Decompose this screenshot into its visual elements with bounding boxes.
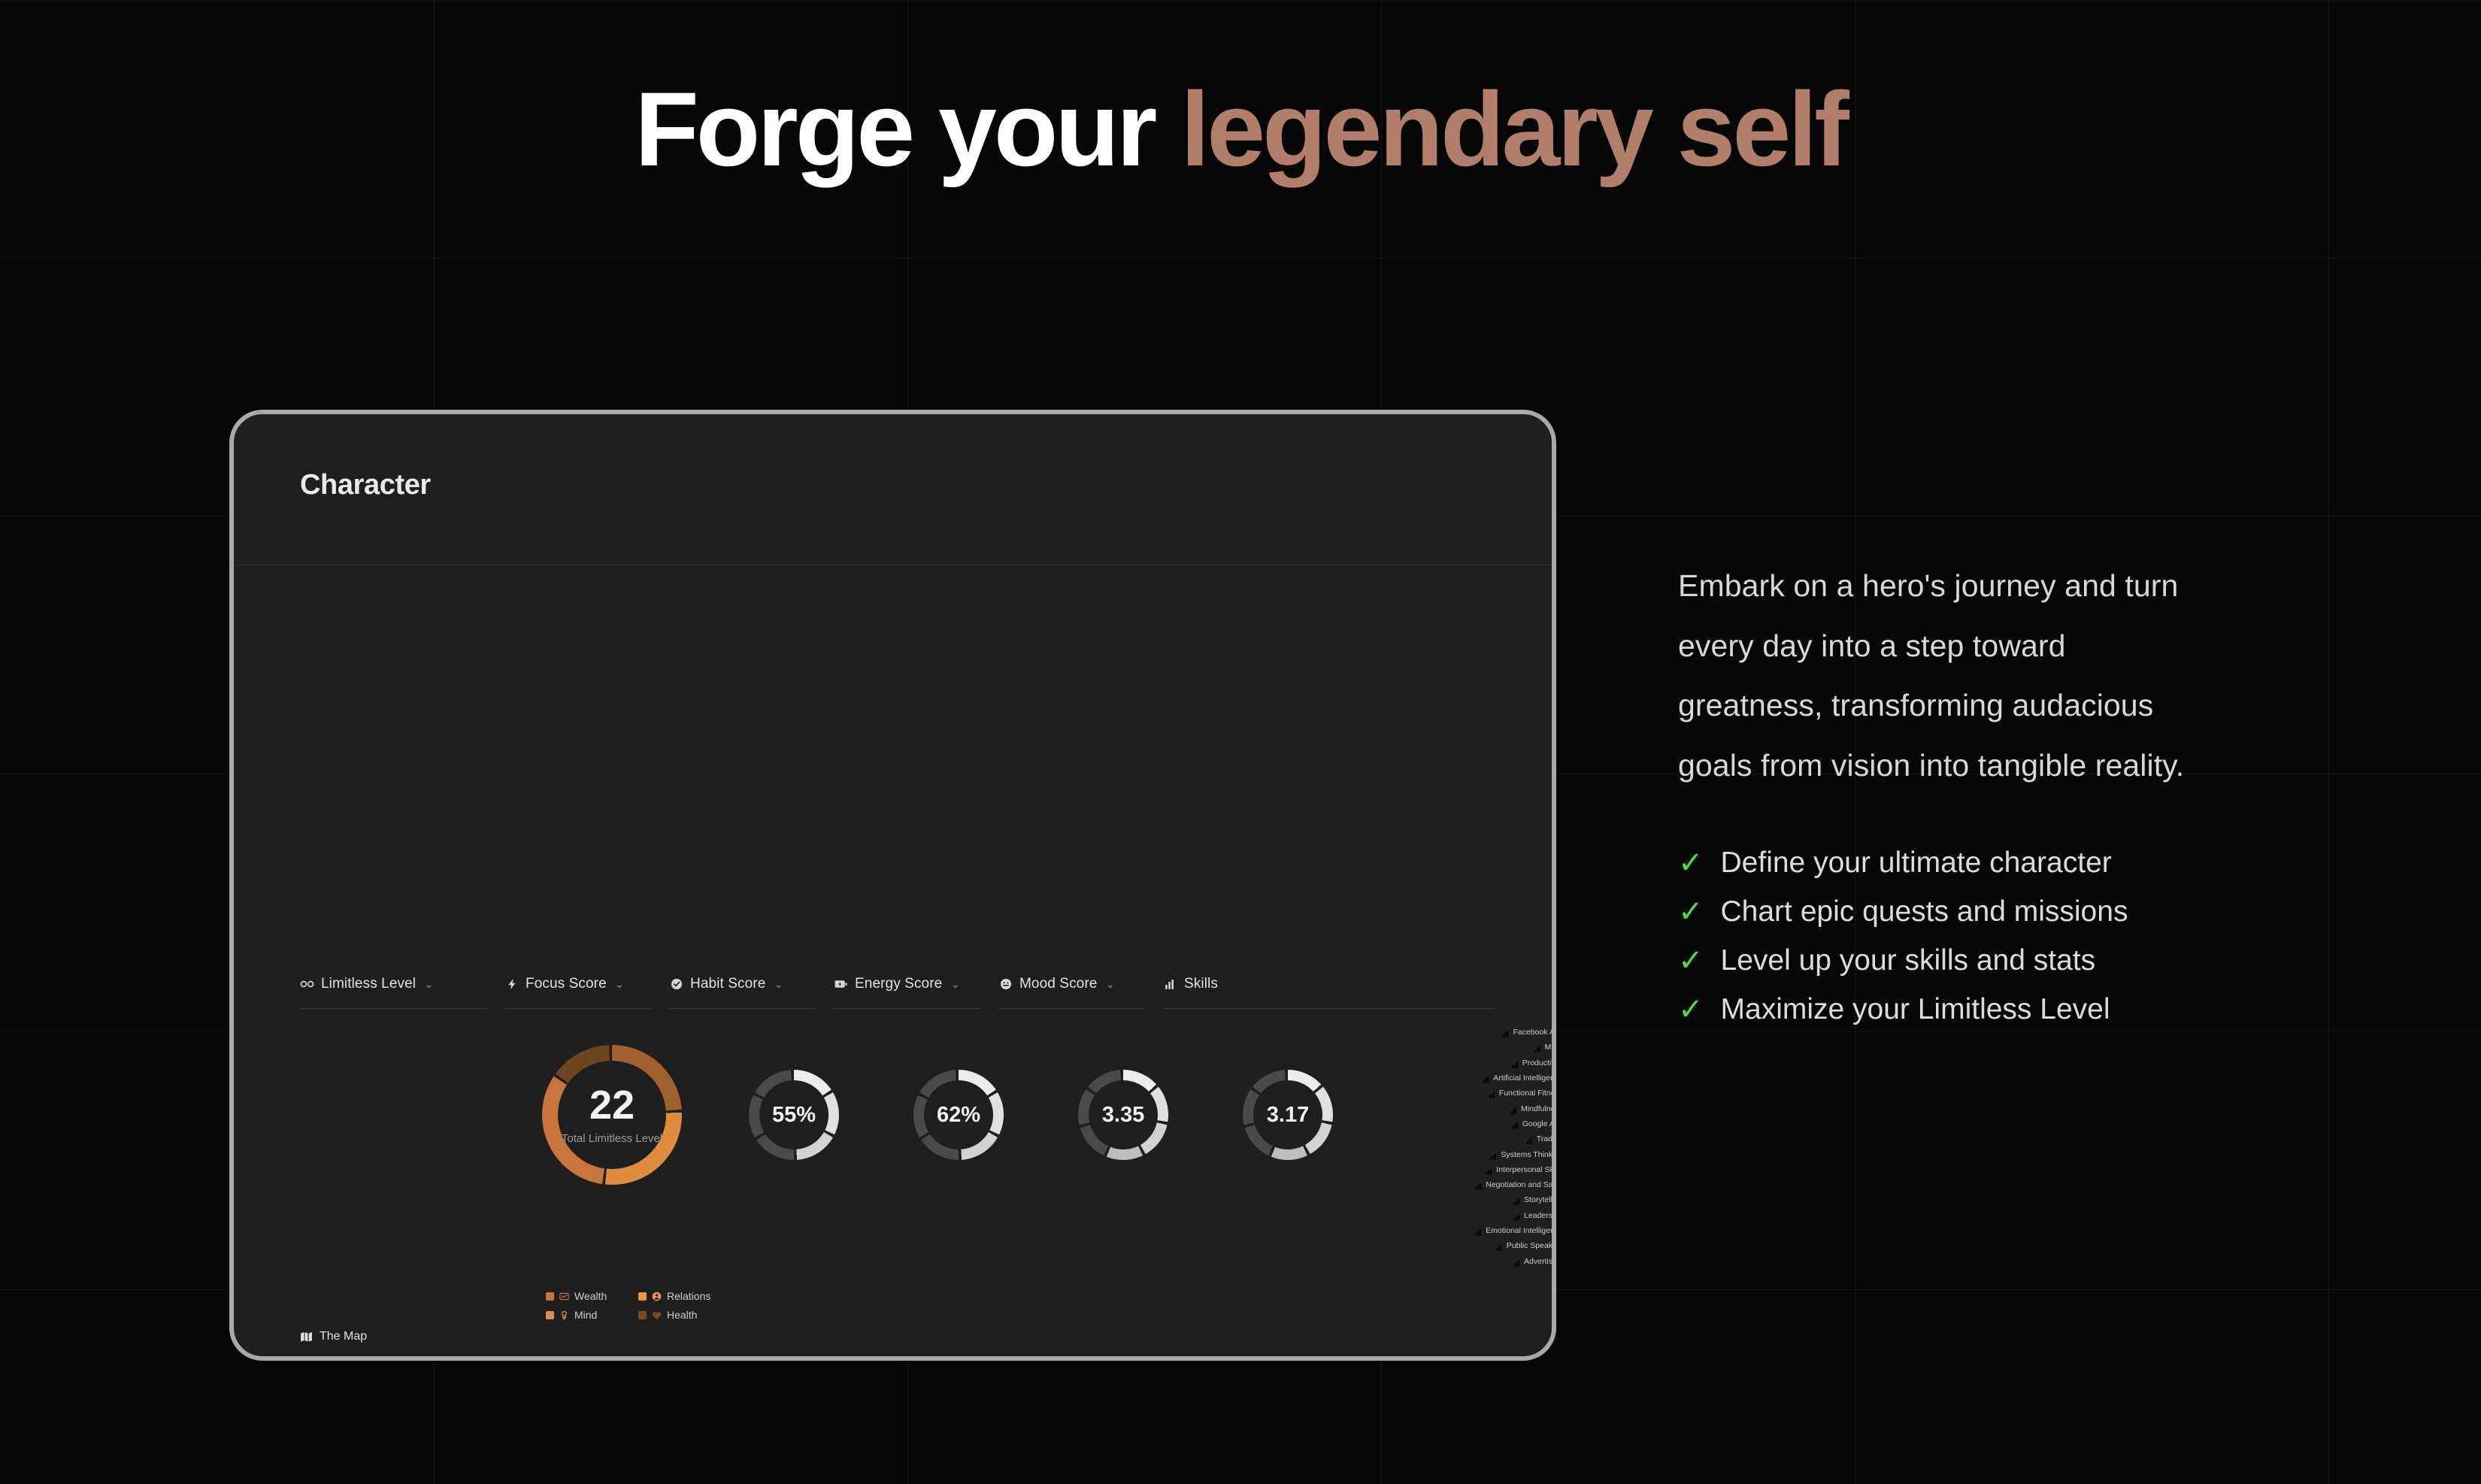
bar-chart-icon — [1502, 1028, 1510, 1036]
bar-chart-icon — [1475, 1227, 1483, 1234]
check-circle-icon — [669, 977, 683, 992]
chart-bar-row: Systems Thinking3 — [1484, 1146, 1556, 1161]
check-icon: ✓ — [1678, 897, 1704, 927]
legend-item-health: Health — [638, 1309, 717, 1321]
property-header-habit-score[interactable]: Habit Score⌄ — [669, 974, 816, 1009]
chart-bar-label: Artificial Intelligence — [1483, 1074, 1556, 1083]
gauge-limitless-value: 22 — [589, 1085, 635, 1125]
gauge-energy-score: 3.35 — [1078, 1070, 1168, 1160]
right-column: Embark on a hero's journey and turn ever… — [1678, 556, 2355, 1026]
chart-bar-label: Public Speaking — [1496, 1241, 1556, 1250]
checklist-item: ✓Define your ultimate character — [1678, 846, 2355, 880]
property-header-mood-score[interactable]: Mood Score⌄ — [998, 974, 1145, 1009]
chart-bar-row: Interpersonal Skills3 — [1484, 1162, 1556, 1177]
chart-bar-row: Functional Fitness4 — [1484, 1086, 1556, 1101]
checklist-label: Level up your skills and stats — [1721, 944, 2096, 977]
check-icon: ✓ — [1678, 995, 1704, 1025]
chart-bar-row: Facebook Ads5 — [1484, 1025, 1556, 1040]
legend-label: Wealth — [574, 1290, 607, 1302]
chart-bar-row: Storytelling2 — [1484, 1192, 1556, 1207]
gauge-limitless-caption: Total Limitless Level — [562, 1132, 662, 1145]
bar-chart-icon — [1475, 1181, 1483, 1189]
chart-bar-row: Leadership2 — [1484, 1208, 1556, 1223]
lightning-icon — [504, 977, 519, 992]
chart-bar-label: Facebook Ads — [1502, 1028, 1556, 1037]
smiley-icon — [998, 977, 1013, 992]
checklist-label: Define your ultimate character — [1721, 846, 2112, 880]
property-label: Limitless Level — [321, 976, 416, 992]
legend-label: Mind — [574, 1309, 597, 1321]
legend-label: Relations — [667, 1290, 710, 1302]
page-title: Character — [300, 469, 431, 501]
chart-bar-label: Advertising — [1513, 1257, 1556, 1266]
chart-bar-label: Productivity — [1512, 1058, 1556, 1068]
infinity-icon — [300, 977, 314, 992]
chart-bar-label: Systems Thinking — [1490, 1150, 1556, 1159]
chart-bar-label: Functional Fitness — [1489, 1089, 1556, 1098]
trend-icon — [559, 1292, 569, 1301]
bar-chart-icon — [1512, 1059, 1519, 1067]
checklist-label: Chart epic quests and missions — [1721, 895, 2128, 928]
chart-bar-label: Emotional Intelligence — [1475, 1226, 1556, 1235]
bar-chart-icon — [1534, 1043, 1542, 1051]
chart-bar-label: Trading — [1526, 1134, 1556, 1143]
property-label: Skills — [1184, 976, 1218, 992]
title-divider — [234, 565, 1552, 565]
chart-bar-row: Public Speaking2 — [1484, 1238, 1556, 1253]
property-header-energy-score[interactable]: Energy Score⌄ — [834, 974, 980, 1009]
bar-chart-icon — [1490, 1151, 1498, 1158]
chart-bar-row: Negotiation and Sales3 — [1484, 1177, 1556, 1192]
checklist-item: ✓Chart epic quests and missions — [1678, 895, 2355, 928]
bar-chart-icon — [1486, 1166, 1493, 1174]
bar-chart-icon — [1163, 977, 1177, 992]
check-icon: ✓ — [1678, 946, 1704, 976]
headline-accent: legendary self — [1180, 70, 1846, 188]
property-header-skills[interactable]: Skills — [1163, 974, 1495, 1009]
gauge-habit-value: 62% — [937, 1103, 980, 1128]
property-label: Mood Score — [1019, 976, 1097, 992]
map-icon — [300, 1331, 313, 1343]
chart-bar-row: Trading3 — [1484, 1131, 1556, 1146]
chart-bar-label: MMA — [1534, 1043, 1557, 1052]
bar-chart-icon — [1510, 1105, 1518, 1113]
chart-bar-label: Storytelling — [1513, 1195, 1556, 1204]
legend-swatch — [546, 1311, 554, 1319]
checklist-item: ✓Maximize your Limitless Level — [1678, 993, 2355, 1026]
legend-swatch — [638, 1292, 647, 1301]
chart-bars: Facebook Ads5MMA4Productivity4Artificial… — [1484, 1025, 1556, 1269]
checklist-label: Maximize your Limitless Level — [1721, 993, 2110, 1026]
bar-chart-icon — [1496, 1242, 1504, 1249]
chart-bar-row: Mindfulness4 — [1484, 1101, 1556, 1116]
skills-bar-chart: Facebook Ads5MMA4Productivity4Artificial… — [1484, 1025, 1556, 1309]
bar-chart-icon — [1489, 1089, 1496, 1097]
chevron-down-icon[interactable]: ⌄ — [774, 977, 783, 991]
chart-bar-label: Leadership — [1513, 1211, 1556, 1220]
chevron-down-icon[interactable]: ⌄ — [1105, 977, 1115, 991]
donut-legend: WealthRelationsMindHealth — [546, 1290, 734, 1321]
legend-item-wealth: Wealth — [546, 1290, 625, 1302]
chart-bar-row: Artificial Intelligence4 — [1484, 1071, 1556, 1086]
gauge-focus-value: 55% — [772, 1103, 816, 1128]
property-header-limitless-level[interactable]: Limitless Level⌄ — [300, 974, 486, 1009]
benefits-checklist: ✓Define your ultimate character✓Chart ep… — [1678, 846, 2355, 1026]
legend-swatch — [638, 1311, 647, 1319]
gauge-habit-score: 62% — [913, 1070, 1004, 1160]
chart-bar-row: Productivity4 — [1484, 1055, 1556, 1071]
battery-icon — [834, 977, 848, 992]
map-section-header[interactable]: The Map — [300, 1330, 367, 1343]
property-label: Habit Score — [690, 976, 765, 992]
gauge-energy-value: 3.35 — [1102, 1103, 1144, 1128]
bar-chart-icon — [1483, 1074, 1490, 1082]
chart-bar-row: Emotional Intelligence2 — [1484, 1223, 1556, 1238]
mind-icon — [559, 1310, 569, 1320]
map-section-label: The Map — [320, 1330, 367, 1343]
chart-bar-row: Google Ads3 — [1484, 1116, 1556, 1131]
heart-icon — [652, 1310, 662, 1320]
chart-bar-label: Negotiation and Sales — [1475, 1180, 1556, 1189]
chevron-down-icon[interactable]: ⌄ — [615, 977, 625, 991]
checklist-item: ✓Level up your skills and stats — [1678, 944, 2355, 977]
bar-chart-icon — [1513, 1196, 1521, 1204]
page-headline: Forge your legendary self — [0, 77, 2481, 182]
property-header-focus-score[interactable]: Focus Score⌄ — [504, 974, 651, 1009]
gauge-focus-score: 55% — [749, 1070, 839, 1160]
check-icon: ✓ — [1678, 848, 1704, 878]
gauge-mood-score: 3.17 — [1243, 1070, 1333, 1160]
chart-bar-label: Interpersonal Skills — [1486, 1165, 1556, 1174]
legend-item-mind: Mind — [546, 1309, 625, 1321]
legend-label: Health — [667, 1309, 697, 1321]
headline-white: Forge your — [635, 70, 1180, 188]
chart-bar-label: Mindfulness — [1510, 1104, 1556, 1113]
bar-chart-icon — [1513, 1258, 1521, 1265]
property-header-row: Limitless Level⌄Focus Score⌄Habit Score⌄… — [300, 974, 1495, 1009]
map-divider — [300, 1360, 1486, 1361]
gauge-limitless-level: 22 Total Limitless Level — [542, 1045, 682, 1185]
legend-swatch — [546, 1292, 554, 1301]
chart-bar-label: Google Ads — [1512, 1119, 1556, 1128]
chevron-down-icon[interactable]: ⌄ — [424, 977, 434, 991]
bar-chart-icon — [1512, 1120, 1519, 1128]
gauge-mood-value: 3.17 — [1267, 1103, 1309, 1128]
bar-chart-icon — [1513, 1212, 1521, 1219]
bar-chart-icon — [1526, 1135, 1534, 1143]
property-label: Focus Score — [526, 976, 607, 992]
app-screenshot-panel: Character Limitless Level⌄Focus Score⌄Ha… — [229, 410, 1556, 1361]
chart-bar-row: Advertising1 — [1484, 1253, 1556, 1268]
legend-item-relations: Relations — [638, 1290, 717, 1302]
property-label: Energy Score — [855, 976, 942, 992]
description-paragraph: Embark on a hero's journey and turn ever… — [1678, 556, 2189, 795]
chevron-down-icon[interactable]: ⌄ — [950, 977, 960, 991]
chart-bar-row: MMA4 — [1484, 1040, 1556, 1055]
person-icon — [652, 1292, 662, 1301]
